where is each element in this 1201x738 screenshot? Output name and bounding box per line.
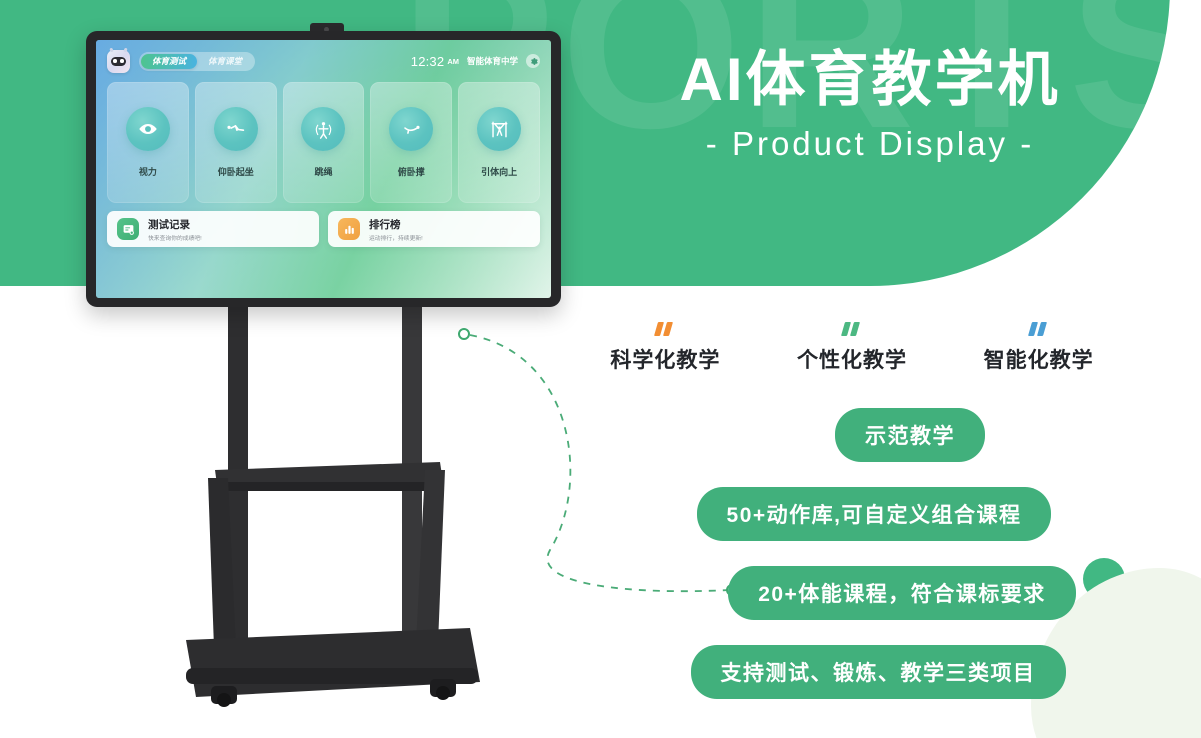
wide-card-title: 排行榜	[369, 217, 423, 232]
pill-demo-teaching[interactable]: 示范教学	[835, 408, 985, 462]
page-title: AI体育教学机	[600, 48, 1140, 113]
feature-scientific: 科学化教学	[572, 322, 759, 374]
quote-mark-icon	[759, 322, 946, 336]
monitor-bezel: 体育测试 体育课堂 12:32 AM 智能体育中学	[86, 31, 561, 307]
situp-icon	[214, 107, 258, 151]
screen-topbar: 体育测试 体育课堂 12:32 AM 智能体育中学	[107, 49, 540, 73]
exercise-card-label: 跳绳	[314, 165, 332, 178]
robot-avatar-icon[interactable]	[107, 50, 130, 73]
tab-sports-test[interactable]: 体育测试	[141, 54, 197, 69]
pill-action-library[interactable]: 50+动作库,可自定义组合课程	[697, 487, 1052, 541]
pill-fitness-courses[interactable]: 20+体能课程，符合课标要求	[728, 566, 1076, 620]
wide-card-title: 测试记录	[148, 217, 202, 232]
feature-title: 科学化教学	[572, 344, 759, 374]
robot-antenna-left-icon	[109, 47, 113, 52]
gear-icon[interactable]	[526, 54, 540, 68]
header-block: AI体育教学机 - Product Display -	[600, 48, 1140, 163]
interactive-display: 体育测试 体育课堂 12:32 AM 智能体育中学	[86, 31, 561, 307]
exercise-card-situp[interactable]: 仰卧起坐	[195, 82, 277, 203]
screen: 体育测试 体育课堂 12:32 AM 智能体育中学	[96, 40, 551, 298]
record-list-icon	[117, 218, 139, 240]
leaderboard-card[interactable]: 排行榜 运动排行，持续更新!	[328, 211, 540, 247]
feature-personalized: 个性化教学	[759, 322, 946, 374]
exercise-card-label: 引体向上	[481, 165, 517, 178]
feature-pill-list: 示范教学 50+动作库,可自定义组合课程 20+体能课程，符合课标要求 支持测试…	[560, 408, 1160, 724]
screen-tab-group[interactable]: 体育测试 体育课堂	[139, 52, 255, 71]
jumprope-icon	[301, 107, 345, 151]
feature-intelligent: 智能化教学	[945, 322, 1132, 374]
exercise-card-pushup[interactable]: 俯卧撑	[370, 82, 452, 203]
screen-topbar-right: 12:32 AM 智能体育中学	[411, 54, 540, 69]
page-subtitle: - Product Display -	[600, 125, 1140, 163]
connector-endpoint-top	[459, 329, 469, 339]
eye-icon	[126, 107, 170, 151]
exercise-card-jumprope[interactable]: 跳绳	[283, 82, 365, 203]
exercise-card-label: 俯卧撑	[398, 165, 425, 178]
pullup-icon	[477, 107, 521, 151]
feature-headings: 科学化教学 个性化教学 智能化教学	[572, 322, 1132, 374]
quote-mark-icon	[572, 322, 759, 336]
feature-title: 智能化教学	[945, 344, 1132, 374]
bar-chart-icon	[338, 218, 360, 240]
product-display-page: PORTS AI体育教学机 - Product Display -	[0, 0, 1201, 738]
wide-card-subtitle: 运动排行，持续更新!	[369, 233, 423, 242]
exercise-card-label: 仰卧起坐	[218, 165, 254, 178]
screen-wide-card-row: 测试记录 快来查询你的成绩吧!	[107, 211, 540, 247]
exercise-card-label: 视力	[139, 165, 157, 178]
quote-mark-icon	[945, 322, 1132, 336]
feature-title: 个性化教学	[759, 344, 946, 374]
pushup-icon	[389, 107, 433, 151]
test-records-card[interactable]: 测试记录 快来查询你的成绩吧!	[107, 211, 319, 247]
tab-sports-classroom[interactable]: 体育课堂	[197, 54, 253, 69]
wide-card-subtitle: 快来查询你的成绩吧!	[148, 233, 202, 242]
exercise-card-vision[interactable]: 视力	[107, 82, 189, 203]
exercise-card-pullup[interactable]: 引体向上	[458, 82, 540, 203]
pill-three-project-types[interactable]: 支持测试、锻炼、教学三类项目	[691, 645, 1066, 699]
clock-time: 12:32	[411, 54, 445, 69]
exercise-card-grid: 视力 仰卧起坐	[107, 82, 540, 203]
clock-meridiem: AM	[447, 57, 459, 66]
school-name: 智能体育中学	[467, 55, 518, 67]
robot-antenna-right-icon	[123, 47, 127, 52]
